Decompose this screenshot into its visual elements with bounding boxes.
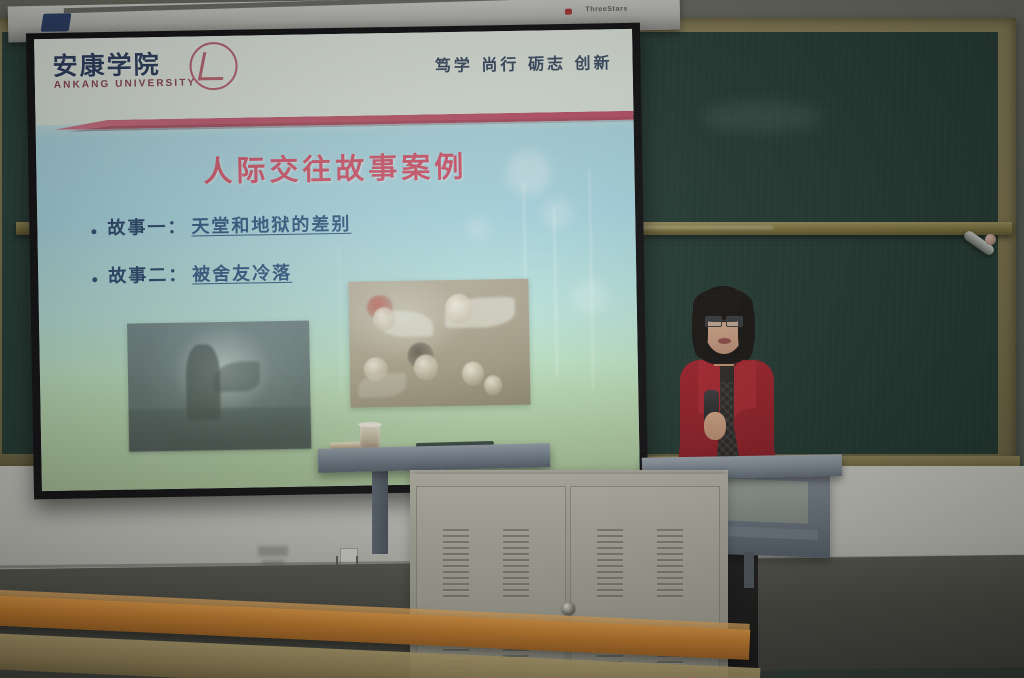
bullet-link-2[interactable]: 被舍友冷落 <box>192 259 292 287</box>
cup-on-table <box>360 424 380 449</box>
bullet-link-1[interactable]: 天堂和地狱的差别 <box>191 210 351 239</box>
board-magnet-icon <box>985 234 996 245</box>
presenter-hand <box>704 412 726 440</box>
lecture-hall-photo: ThreeStars 安康学院 ANKANG UNIVERSITY 笃学 尚行 … <box>0 0 1024 678</box>
bullet-dot-icon <box>91 229 96 234</box>
housing-brand-label: ThreeStars <box>585 6 628 14</box>
university-name-en: ANKANG UNIVERSITY <box>54 77 197 90</box>
university-motto: 笃学 尚行 砺志 创新 <box>435 49 613 76</box>
table-leg <box>372 468 388 554</box>
university-name-cn: 安康学院 <box>52 45 161 83</box>
brand-mark-icon <box>565 9 572 15</box>
slide-surface: 安康学院 ANKANG UNIVERSITY 笃学 尚行 砺志 创新 人际交往故… <box>34 29 640 491</box>
bullet-label-2: 故事二： <box>108 261 188 288</box>
cabinet-lock-icon[interactable] <box>562 602 575 615</box>
university-seal-icon <box>189 42 238 91</box>
slide-image-painting <box>348 279 530 408</box>
slide-image-silhouette <box>127 320 311 451</box>
slide-header: 安康学院 ANKANG UNIVERSITY 笃学 尚行 砺志 创新 <box>34 29 633 125</box>
bullet-dot-icon <box>92 277 97 282</box>
bullet-label-1: 故事一： <box>107 213 187 240</box>
projection-screen: 安康学院 ANKANG UNIVERSITY 笃学 尚行 砺志 创新 人际交往故… <box>26 23 648 500</box>
eyeglasses-icon <box>705 316 743 326</box>
screen-mount-bracket <box>41 13 72 32</box>
